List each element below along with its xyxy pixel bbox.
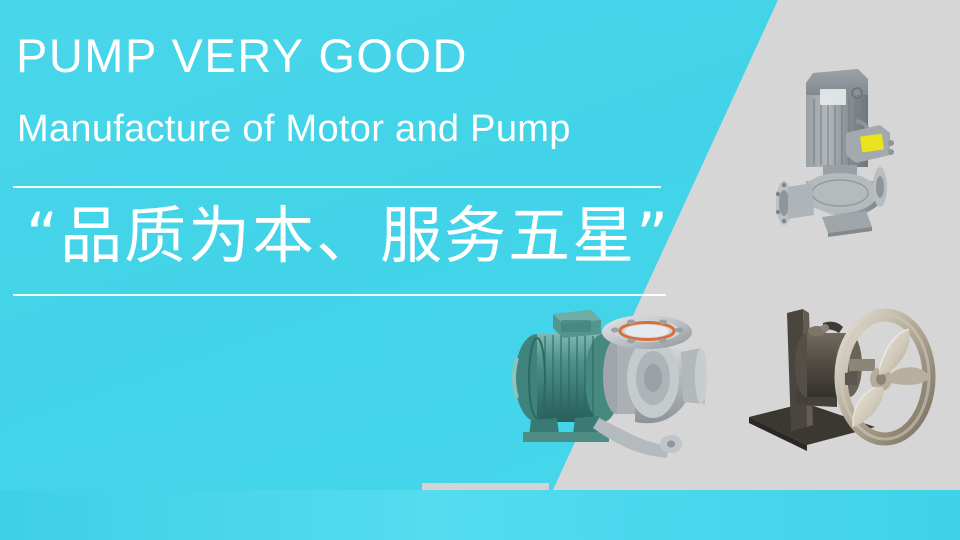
product-image-inline-vertical-centrifugal-pump (768, 55, 948, 255)
subheadline-text: Manufacture of Motor and Pump (17, 110, 571, 148)
divider-line-bottom (13, 294, 666, 296)
headline-title: PUMP VERY GOOD (16, 32, 468, 79)
background-bottom-band (0, 490, 960, 540)
slogan-chinese: “品质为本、服务五星” (26, 203, 670, 268)
product-image-submersible-mixer (745, 295, 960, 480)
product-image-horizontal-centrifugal-pump (495, 300, 725, 465)
promotional-banner: PUMP VERY GOOD Manufacture of Motor and … (0, 0, 960, 540)
divider-line-top (13, 186, 661, 188)
